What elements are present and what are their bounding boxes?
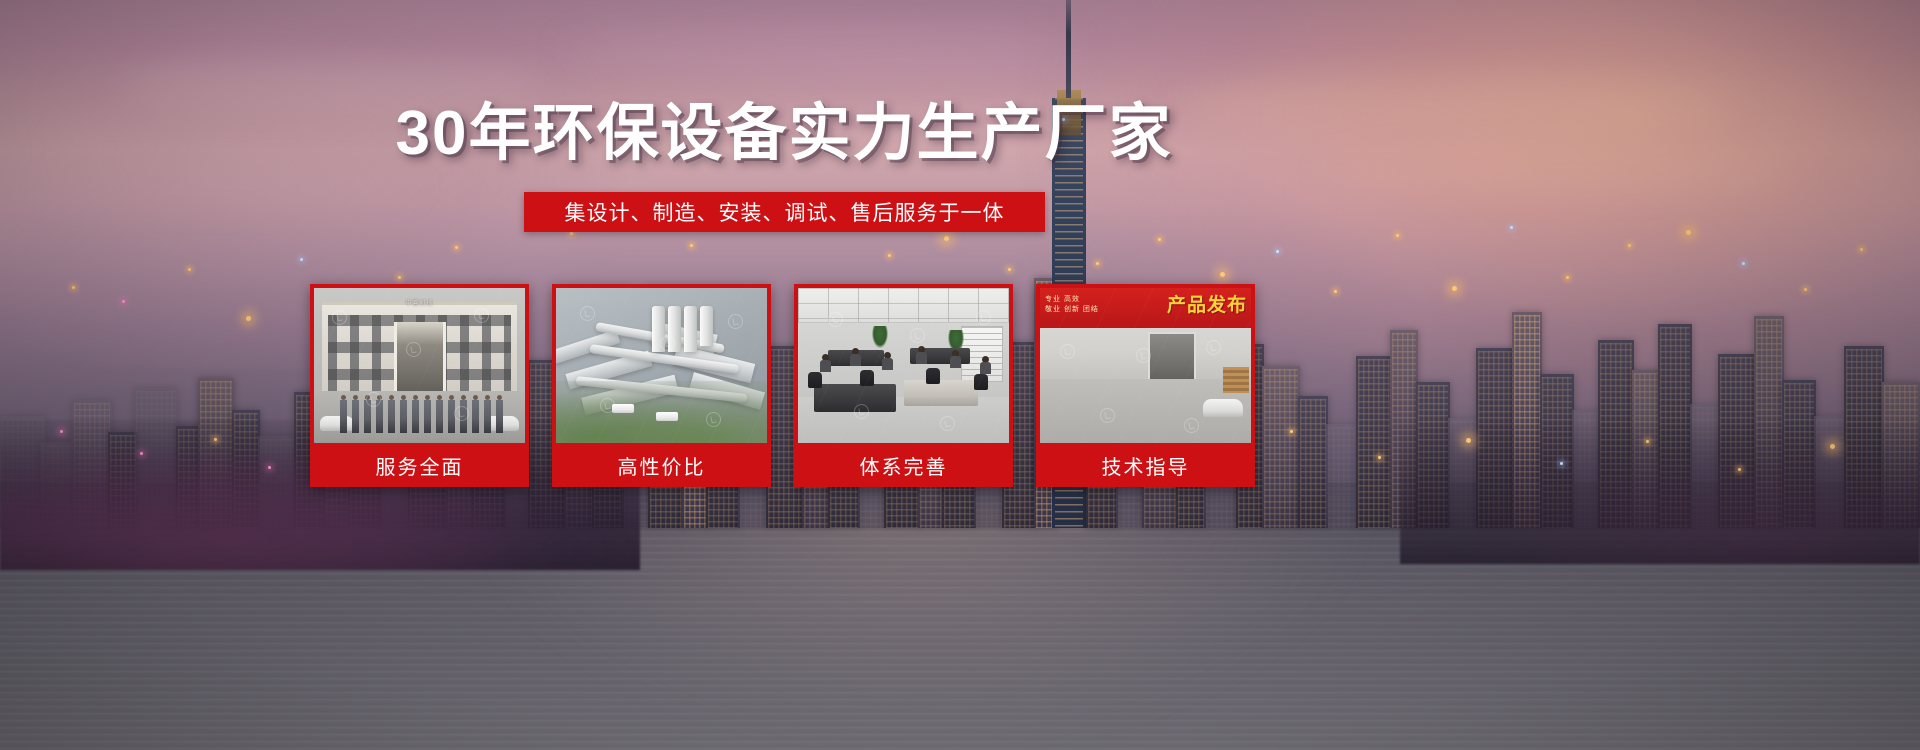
feature-card-caption: 服务全面 xyxy=(314,443,525,487)
aerial-factory-plant-photo xyxy=(556,288,767,443)
company-office-building-staff-photo: 申蓋机械 xyxy=(314,288,525,443)
feature-card[interactable]: 体系完善 xyxy=(794,284,1013,487)
workshop-banner-text: 产品发布 xyxy=(1167,290,1247,317)
banner-headline: 30年环保设备实力生产厂家 xyxy=(0,103,1568,165)
banner-content: 30年环保设备实力生产厂家 集设计、制造、安装、调试、售后服务于一体 申蓋机械 xyxy=(0,0,1920,750)
workshop-workers-photo: 专业 高效 敬业 创新 团结 产品发布 xyxy=(1040,288,1251,443)
office-interior-meeting-photo xyxy=(798,288,1009,443)
feature-card-caption: 体系完善 xyxy=(798,443,1009,487)
banner-subtitle-text: 集设计、制造、安装、调试、售后服务于一体 xyxy=(565,197,1005,227)
feature-card-caption: 技术指导 xyxy=(1040,443,1251,487)
hero-banner: 30年环保设备实力生产厂家 集设计、制造、安装、调试、售后服务于一体 申蓋机械 xyxy=(0,0,1920,750)
feature-card-caption: 高性价比 xyxy=(556,443,767,487)
feature-card[interactable]: 高性价比 xyxy=(552,284,771,487)
banner-subtitle-bar: 集设计、制造、安装、调试、售后服务于一体 xyxy=(524,192,1045,232)
feature-card[interactable]: 专业 高效 敬业 创新 团结 产品发布 xyxy=(1036,284,1255,487)
feature-card-row: 申蓋机械 xyxy=(310,284,1250,487)
feature-card[interactable]: 申蓋机械 xyxy=(310,284,529,487)
workshop-banner-subtext: 专业 高效 敬业 创新 团结 xyxy=(1045,295,1099,315)
building-sign-text: 申蓋机械 xyxy=(405,298,433,307)
